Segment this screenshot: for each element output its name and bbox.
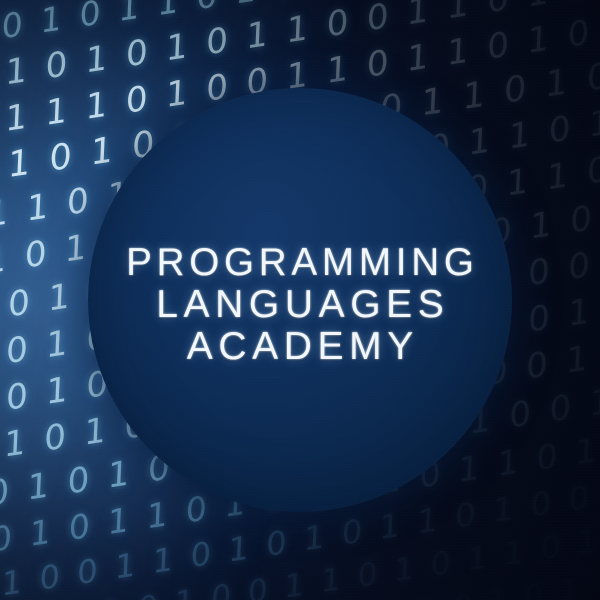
title-line-2: LANGUAGES bbox=[0, 285, 600, 324]
cover-title: PROGRAMMING LANGUAGES ACADEMY bbox=[0, 243, 600, 366]
title-line-3: ACADEMY bbox=[0, 327, 600, 366]
title-line-1: PROGRAMMING bbox=[3, 243, 597, 282]
album-cover: 1 0 1 0 1 0 1 1 0 1 0 0 1 1 0 1 0 1 0 0 … bbox=[0, 0, 600, 600]
